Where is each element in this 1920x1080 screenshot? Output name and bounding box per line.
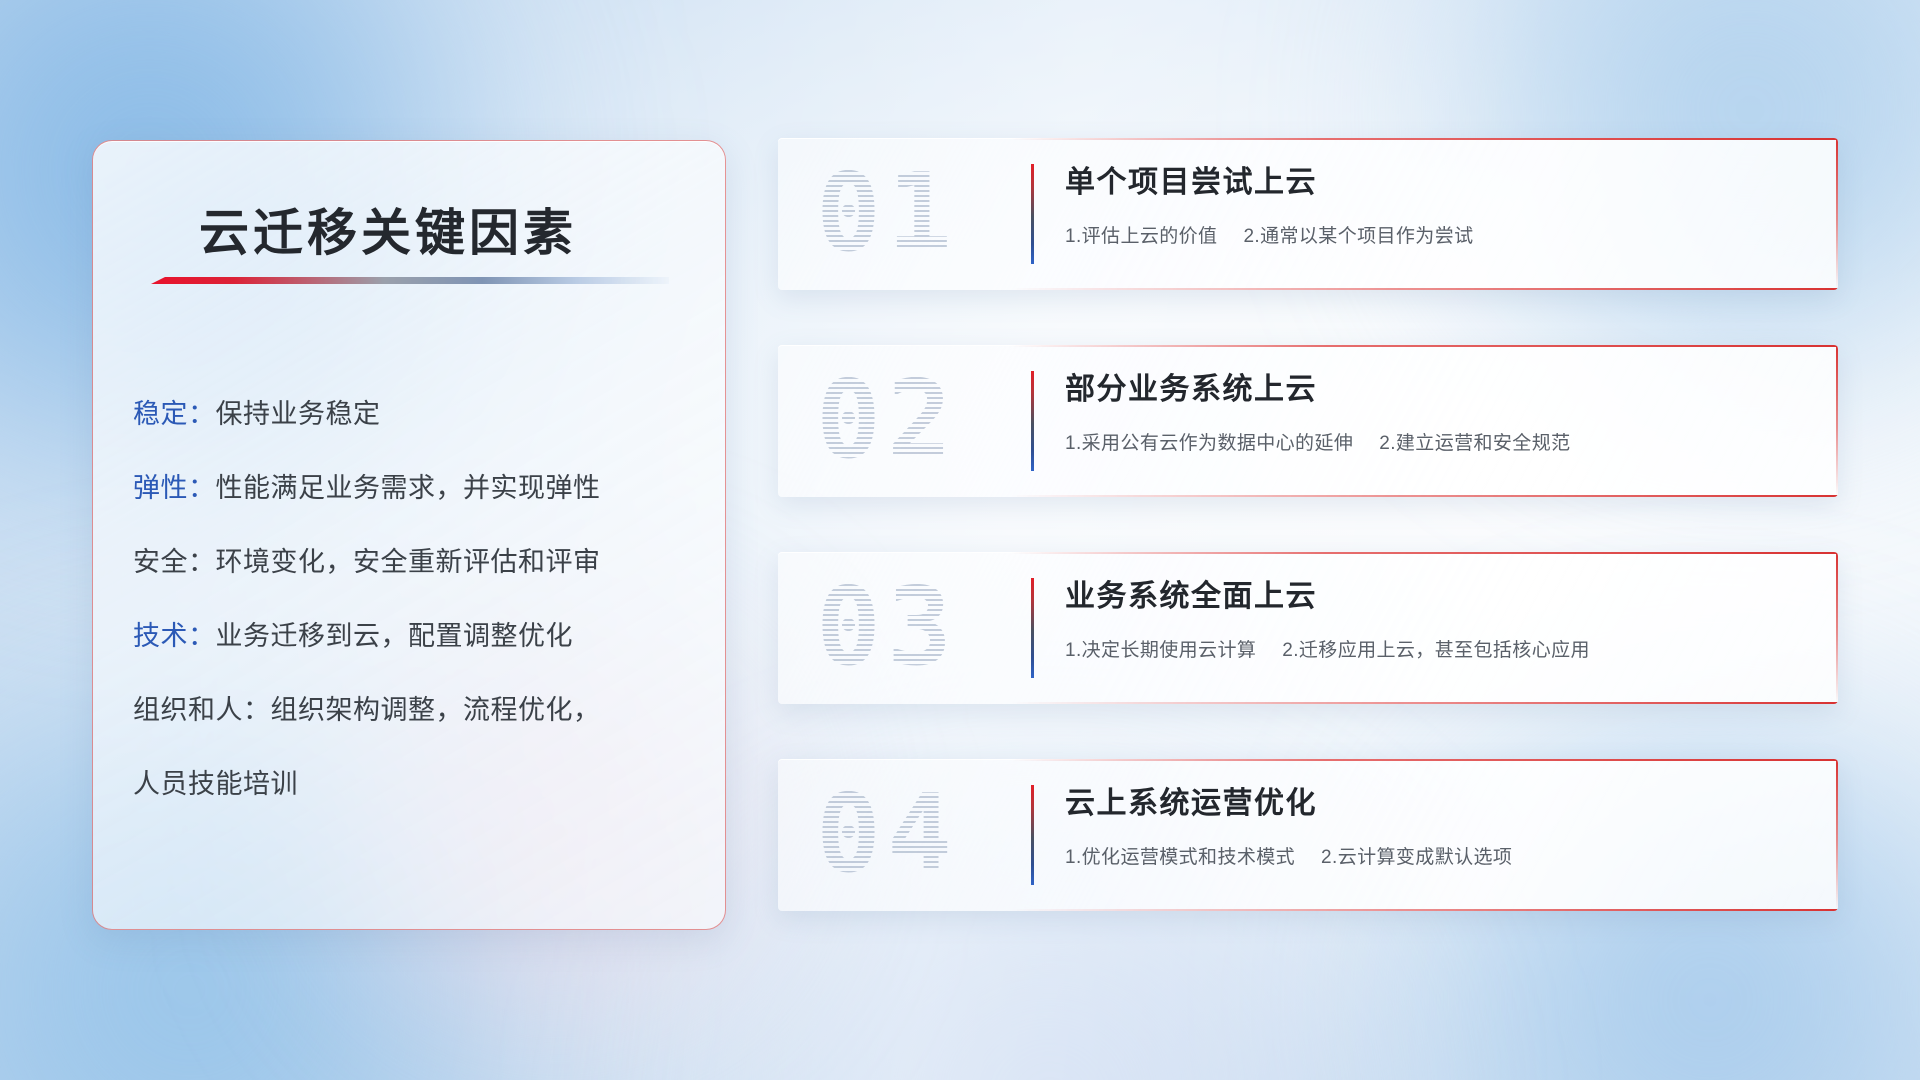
list-item-label: 技术： [133, 621, 216, 651]
list-item: 稳定：保持业务稳定 [133, 377, 693, 451]
stage-divider-bar [1031, 578, 1034, 678]
stage-point-2: 2.通常以某个项目作为尝试 [1243, 226, 1473, 247]
stage-subtitle: 1.采用公有云作为数据中心的延伸2.建立运营和安全规范 [1065, 428, 1798, 455]
list-item: 技术：业务迁移到云，配置调整优化 [133, 599, 693, 673]
stage-number-watermark: 02 [816, 367, 958, 475]
stage-point-1: 1.优化运营模式和技术模式 [1065, 847, 1295, 868]
card-bottom-accent [1011, 702, 1838, 704]
stage-title: 部分业务系统上云 [1065, 372, 1798, 408]
list-item-text: 保持业务稳定 [216, 399, 381, 429]
panel-title: 云迁移关键因素 [199, 193, 577, 265]
list-item-label: 安全： [133, 547, 216, 577]
stage-divider-bar [1031, 164, 1034, 264]
stage-card[interactable]: 01 单个项目尝试上云 1.评估上云的价值2.通常以某个项目作为尝试 [778, 138, 1838, 290]
list-item-continuation: 人员技能培训 [133, 747, 693, 821]
list-item-text: 人员技能培训 [133, 769, 298, 799]
stage-title: 云上系统运营优化 [1065, 786, 1798, 822]
list-item-text: 环境变化，安全重新评估和评审 [216, 547, 601, 577]
stage-card[interactable]: 02 部分业务系统上云 1.采用公有云作为数据中心的延伸2.建立运营和安全规范 [778, 345, 1838, 497]
stage-card-body: 云上系统运营优化 1.优化运营模式和技术模式2.云计算变成默认选项 [1065, 786, 1798, 869]
list-item: 弹性：性能满足业务需求，并实现弹性 [133, 451, 693, 525]
stage-point-2: 2.云计算变成默认选项 [1321, 847, 1512, 868]
key-factors-list: 稳定：保持业务稳定 弹性：性能满足业务需求，并实现弹性 安全：环境变化，安全重新… [133, 377, 693, 821]
stage-point-1: 1.决定长期使用云计算 [1065, 640, 1256, 661]
card-bottom-accent [1011, 288, 1838, 290]
list-item-text: 组织架构调整，流程优化， [271, 695, 601, 725]
list-item: 组织和人：组织架构调整，流程优化， [133, 673, 693, 747]
stage-point-2: 2.建立运营和安全规范 [1379, 433, 1570, 454]
stage-point-1: 1.评估上云的价值 [1065, 226, 1217, 247]
migration-stage-cards: 01 单个项目尝试上云 1.评估上云的价值2.通常以某个项目作为尝试 02 部分… [778, 138, 1838, 966]
card-bottom-accent [1011, 909, 1838, 911]
list-item-label: 组织和人： [133, 695, 271, 725]
stage-title: 业务系统全面上云 [1065, 579, 1798, 615]
stage-card-body: 业务系统全面上云 1.决定长期使用云计算2.迁移应用上云，甚至包括核心应用 [1065, 579, 1798, 662]
list-item-text: 性能满足业务需求，并实现弹性 [216, 473, 601, 503]
stage-number-watermark: 04 [816, 781, 958, 889]
stage-point-1: 1.采用公有云作为数据中心的延伸 [1065, 433, 1353, 454]
list-item-label: 稳定： [133, 399, 216, 429]
list-item: 安全：环境变化，安全重新评估和评审 [133, 525, 693, 599]
stage-divider-bar [1031, 371, 1034, 471]
card-bottom-accent [1011, 495, 1838, 497]
stage-number-watermark: 01 [816, 160, 958, 268]
stage-subtitle: 1.优化运营模式和技术模式2.云计算变成默认选项 [1065, 842, 1798, 869]
stage-title: 单个项目尝试上云 [1065, 165, 1798, 201]
stage-card[interactable]: 04 云上系统运营优化 1.优化运营模式和技术模式2.云计算变成默认选项 [778, 759, 1838, 911]
stage-divider-bar [1031, 785, 1034, 885]
stage-card-body: 单个项目尝试上云 1.评估上云的价值2.通常以某个项目作为尝试 [1065, 165, 1798, 248]
stage-point-2: 2.迁移应用上云，甚至包括核心应用 [1282, 640, 1590, 661]
title-underline-gradient [151, 277, 669, 284]
key-factors-panel: 云迁移关键因素 稳定：保持业务稳定 弹性：性能满足业务需求，并实现弹性 安全：环… [92, 140, 726, 930]
stage-number-watermark: 03 [816, 574, 958, 682]
stage-subtitle: 1.评估上云的价值2.通常以某个项目作为尝试 [1065, 221, 1798, 248]
stage-card-body: 部分业务系统上云 1.采用公有云作为数据中心的延伸2.建立运营和安全规范 [1065, 372, 1798, 455]
list-item-label: 弹性： [133, 473, 216, 503]
stage-card[interactable]: 03 业务系统全面上云 1.决定长期使用云计算2.迁移应用上云，甚至包括核心应用 [778, 552, 1838, 704]
list-item-text: 业务迁移到云，配置调整优化 [216, 621, 574, 651]
stage-subtitle: 1.决定长期使用云计算2.迁移应用上云，甚至包括核心应用 [1065, 635, 1798, 662]
slide-stage: 云迁移关键因素 稳定：保持业务稳定 弹性：性能满足业务需求，并实现弹性 安全：环… [0, 0, 1920, 1080]
